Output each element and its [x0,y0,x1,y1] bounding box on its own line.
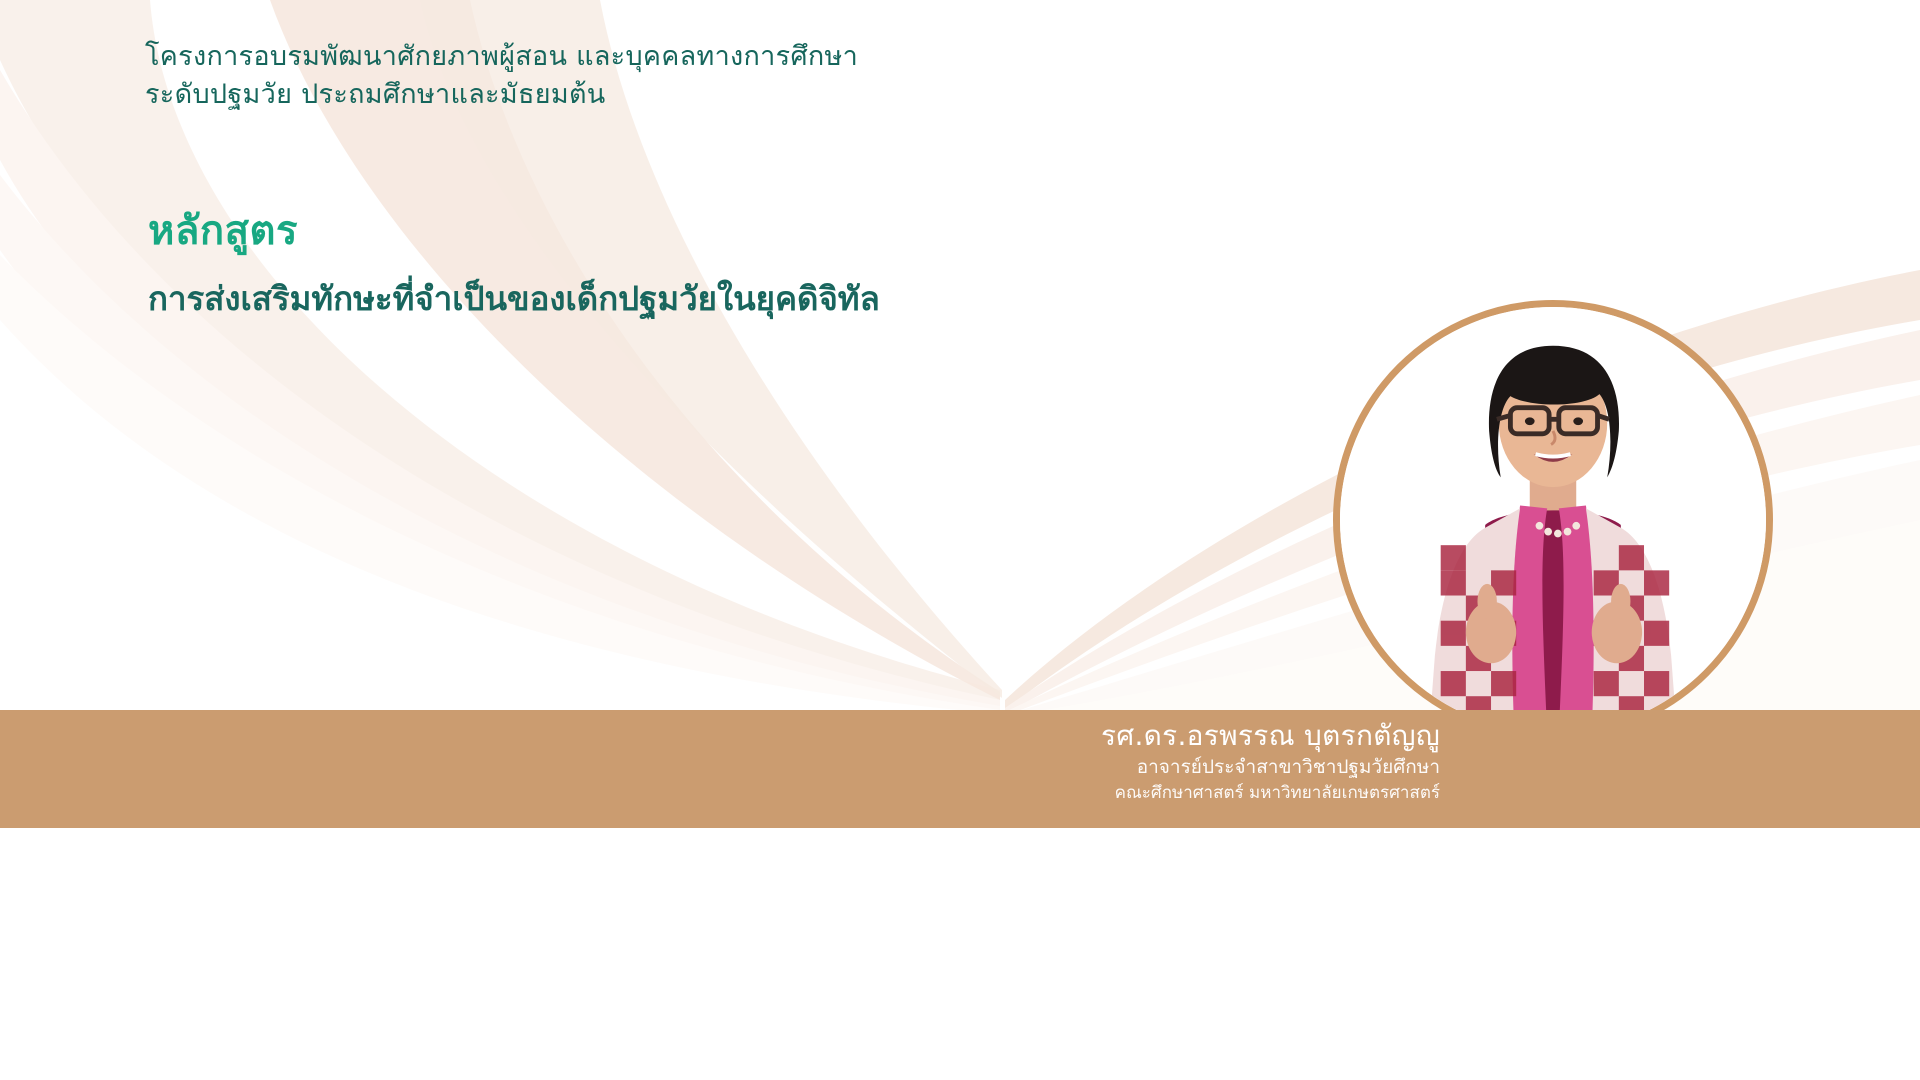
program-heading: โครงการอบรมพัฒนาศักยภาพผู้สอน และบุคคลทา… [145,38,1265,115]
curriculum-label: หลักสูตร [148,198,298,262]
program-heading-line1: โครงการอบรมพัฒนาศักยภาพผู้สอน และบุคคลทา… [145,38,1265,76]
speaker-role: อาจารย์ประจำสาขาวิชาปฐมวัยศึกษา [680,754,1440,781]
speaker-portrait-image [1340,307,1766,733]
program-heading-line2: ระดับปฐมวัย ประถมศึกษาและมัธยมต้น [145,76,1265,114]
speaker-name: รศ.ดร.อรพรรณ บุตรกตัญญู [680,718,1440,754]
speaker-portrait [1333,300,1773,740]
speaker-info: รศ.ดร.อรพรรณ บุตรกตัญญู อาจารย์ประจำสาขา… [680,718,1440,805]
footer: SAKDIBHORNSSUP FOUNDATION มูลนิธิศักดิ์พ… [0,828,1920,1080]
speaker-organization: คณะศึกษาศาสตร์ มหาวิทยาลัยเกษตรศาสตร์ [680,781,1440,806]
poster-canvas: โครงการอบรมพัฒนาศักยภาพผู้สอน และบุคคลทา… [0,0,1920,1080]
course-title: การส่งเสริมทักษะที่จำเป็นของเด็กปฐมวัยใน… [148,272,880,325]
